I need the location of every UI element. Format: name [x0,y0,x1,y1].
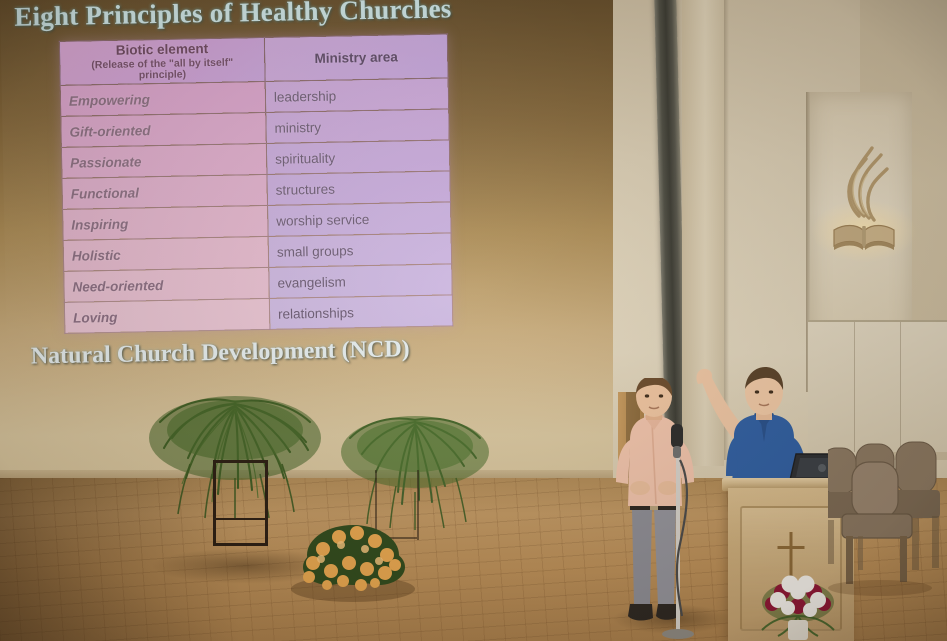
cell-area: small groups [268,233,452,268]
cell-area: structures [267,171,451,206]
floor-flower-arrangement [283,497,423,602]
cell-area: relationships [269,295,453,330]
cell-element: Empowering [60,81,266,116]
cell-element: Gift-oriented [61,112,267,147]
header-biotic-element-main: Biotic element [116,41,209,58]
cell-element: Inspiring [63,205,269,240]
cell-element: Need-oriented [64,267,270,302]
slide-title: Eight Principles of Healthy Churches [14,0,452,33]
header-biotic-element: Biotic element (Release of the "all by i… [59,37,265,85]
fern-stand-left [213,460,269,546]
sda-emblem-icon [828,140,900,260]
cell-area: worship service [267,202,451,237]
cell-area: leadership [265,78,449,113]
header-biotic-element-sub: (Release of the "all by itself" principl… [68,57,256,83]
presentation-photo-scene: Eight Principles of Healthy Churches Bio… [0,0,947,641]
header-ministry-area: Ministry area [264,34,448,82]
cell-element: Passionate [61,143,267,178]
cell-element: Holistic [63,236,269,271]
cell-element: Loving [64,298,270,333]
cell-area: ministry [266,109,450,144]
cell-area: evangelism [269,264,453,299]
platform-chairs [828,438,947,598]
microphone-stand [656,420,702,641]
projected-slide: Eight Principles of Healthy Churches Bio… [0,0,647,395]
slide-table: Biotic element (Release of the "all by i… [59,33,454,333]
table-header-row: Biotic element (Release of the "all by i… [59,34,448,85]
slide-footer: Natural Church Development (NCD) [31,336,410,370]
table-row: Loving relationships [64,295,453,333]
cell-element: Functional [62,174,268,209]
cell-area: spirituality [266,140,450,175]
